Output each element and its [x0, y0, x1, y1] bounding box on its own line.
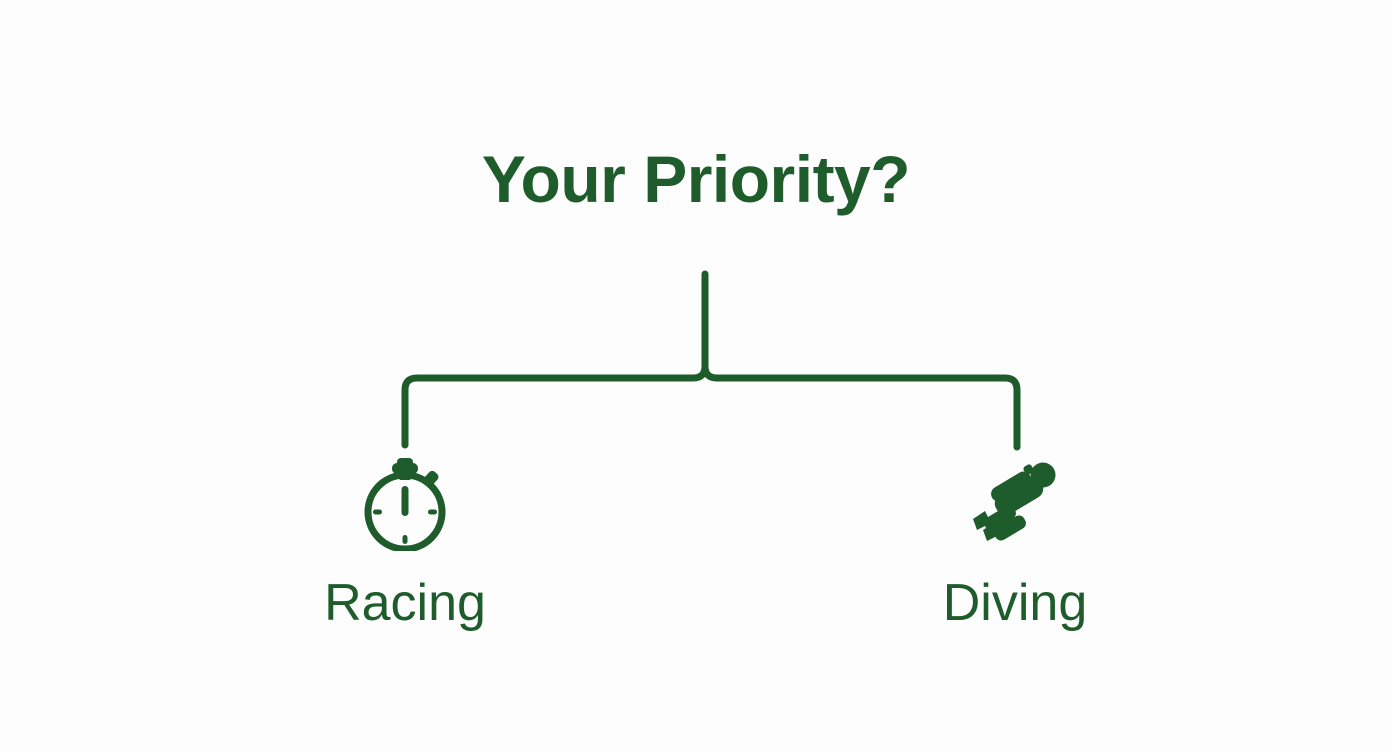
connector-branch-right [717, 378, 1017, 447]
scuba-diver-icon [967, 455, 1063, 551]
branch-label-diving: Diving [885, 577, 1145, 629]
branch-node-racing[interactable]: Racing [275, 455, 535, 629]
tree-connector [0, 0, 1392, 752]
stopwatch-icon [357, 455, 453, 551]
decision-diagram: Your Priority? [0, 0, 1392, 752]
branch-node-diving[interactable]: Diving [885, 455, 1145, 629]
connector-branch-left [405, 378, 693, 445]
connector-stem [705, 274, 717, 378]
branch-label-racing: Racing [275, 577, 535, 629]
